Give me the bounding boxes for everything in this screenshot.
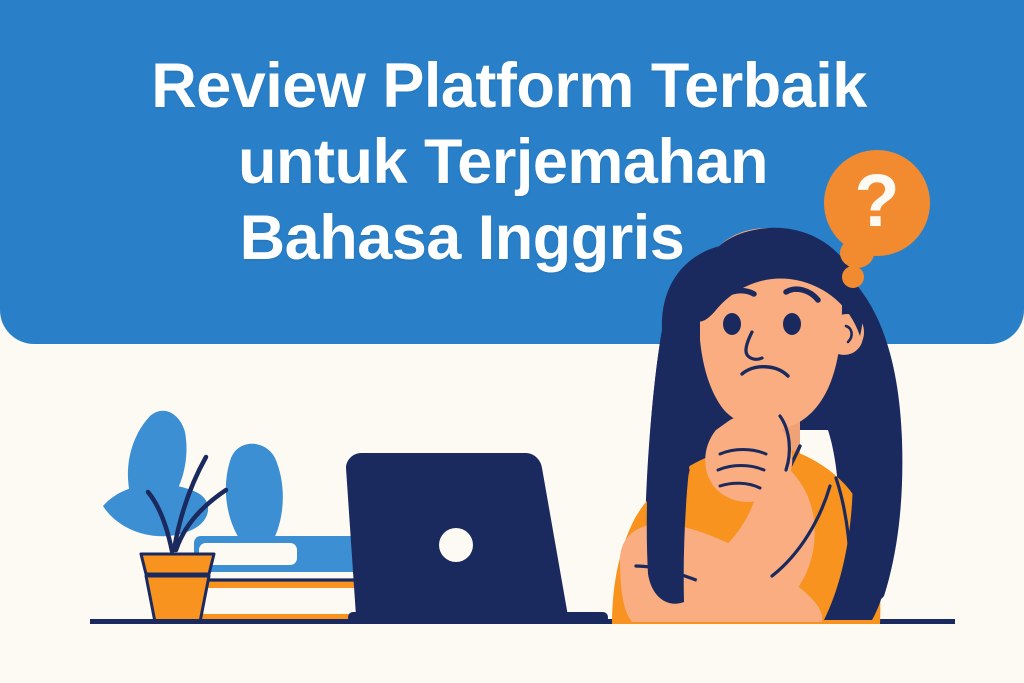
thought-bubble-dot — [842, 266, 864, 288]
thought-bubble: ? — [816, 150, 940, 290]
poster-canvas: Review Platform Terbaik untuk Terjemahan… — [0, 0, 1024, 683]
eye-left — [723, 313, 741, 335]
eye-right — [783, 313, 801, 335]
question-mark-icon: ? — [824, 150, 930, 256]
woman-illustration — [0, 0, 1024, 683]
